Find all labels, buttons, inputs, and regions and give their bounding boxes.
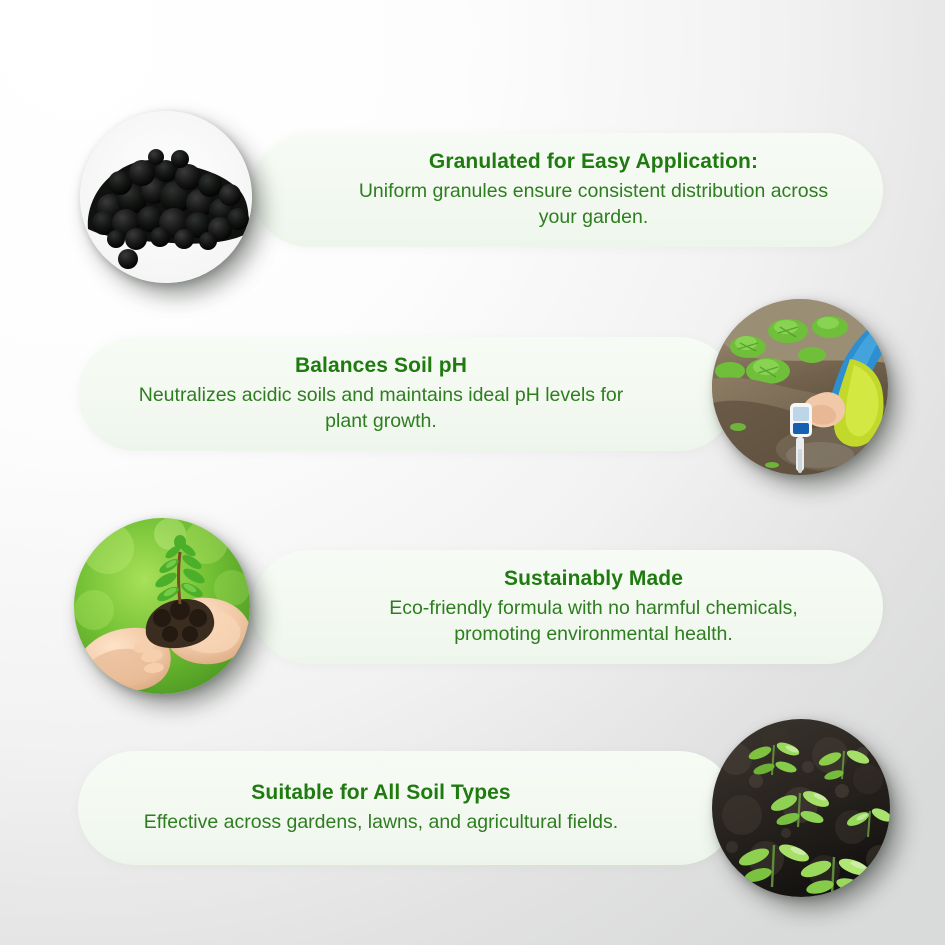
black-granular-fertilizer-photo	[80, 111, 252, 283]
feature-card-soil-types: Suitable for All Soil Types Effective ac…	[78, 751, 736, 865]
seedlings-in-dark-soil-photo	[712, 719, 890, 897]
feature-row-granulated: Granulated for Easy Application: Uniform…	[0, 95, 945, 295]
feature-title: Suitable for All Soil Types	[251, 780, 510, 806]
feature-title: Balances Soil pH	[295, 353, 467, 379]
feature-row-soil-types: Suitable for All Soil Types Effective ac…	[0, 713, 945, 913]
feature-title: Sustainably Made	[504, 566, 683, 592]
feature-title: Granulated for Easy Application:	[429, 149, 758, 175]
soil-ph-meter-photo	[712, 299, 888, 475]
feature-card-sustainable: Sustainably Made Eco-friendly formula wi…	[252, 550, 883, 664]
feature-card-granulated: Granulated for Easy Application: Uniform…	[252, 133, 883, 247]
feature-infographic: Granulated for Easy Application: Uniform…	[0, 0, 945, 945]
feature-description: Uniform granules ensure consistent distr…	[348, 179, 839, 230]
hands-holding-seedling-photo	[74, 518, 250, 694]
feature-row-soil-ph: Balances Soil pH Neutralizes acidic soil…	[0, 299, 945, 499]
feature-description: Eco-friendly formula with no harmful che…	[348, 596, 839, 647]
feature-description: Neutralizes acidic soils and maintains i…	[122, 383, 640, 434]
feature-description: Effective across gardens, lawns, and agr…	[144, 810, 618, 836]
feature-card-soil-ph: Balances Soil pH Neutralizes acidic soil…	[78, 337, 736, 451]
feature-row-sustainable: Sustainably Made Eco-friendly formula wi…	[0, 512, 945, 712]
